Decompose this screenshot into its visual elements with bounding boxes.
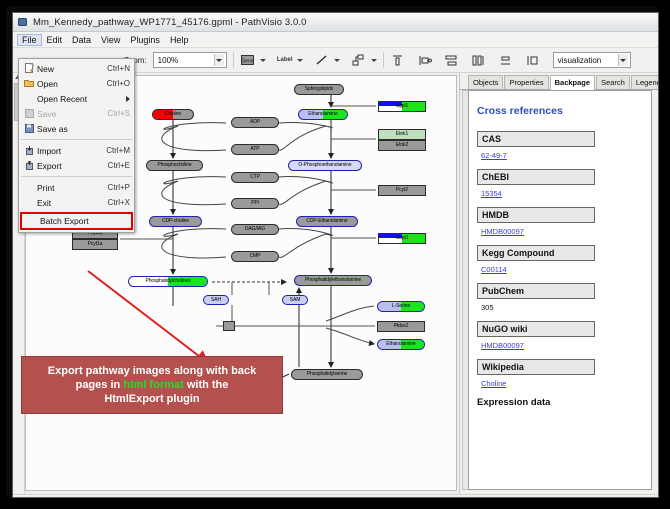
visualization-combo[interactable]: visualization	[553, 52, 631, 68]
annotation-highlight: html format	[123, 379, 184, 391]
menu-label-open: Open	[37, 79, 107, 89]
screenshot-root: Mm_Kennedy_pathway_WP1771_45176.gpml - P…	[0, 0, 670, 509]
save-as-icon	[21, 122, 37, 135]
file-menu-dropdown[interactable]: New Ctrl+N Open Ctrl+O Open Recent Save …	[18, 58, 135, 233]
toolbar-separator-2	[383, 52, 384, 68]
node-ptdss2[interactable]: Ptdss2	[377, 321, 425, 332]
node-sphingolipids[interactable]: Sphingolipids	[294, 84, 344, 95]
menu-label-exit: Exit	[37, 198, 108, 208]
xref-link-cas[interactable]: 62-49-7	[481, 151, 643, 160]
node-phosphatidylcholines[interactable]: Phosphatidylcholines	[128, 276, 208, 287]
open-folder-icon	[21, 77, 37, 90]
xref-link-chebi[interactable]: 15354	[481, 189, 643, 198]
menu-item-import[interactable]: Import Ctrl+M	[19, 143, 134, 158]
tab-objects[interactable]: Objects	[468, 75, 503, 89]
xref-header-pubchem: PubChem	[477, 283, 595, 299]
annotation-line-3: HtmlExport plugin	[104, 392, 199, 406]
menu-separator-1	[21, 139, 132, 140]
line-tool-icon[interactable]	[314, 52, 330, 68]
label-tool-icon[interactable]: Label	[277, 52, 293, 68]
tab-properties[interactable]: Properties	[504, 75, 548, 89]
xref-header-cas: CAS	[477, 131, 595, 147]
menu-label-new: New	[37, 64, 107, 74]
side-panel: Objects Properties Backpage Search Legen…	[460, 73, 658, 494]
interaction-dropdown-icon[interactable]	[371, 59, 377, 62]
node-pcyt1a[interactable]: Pcyt1a	[72, 239, 118, 250]
line-dropdown-icon[interactable]	[334, 59, 340, 62]
menu-item-save-as[interactable]: Save as	[19, 121, 134, 136]
node-sgpl1[interactable]: Sgpl1	[378, 101, 426, 112]
datanode-tool-icon[interactable]: Gene	[240, 52, 256, 68]
xref-header-wikipedia: Wikipedia	[477, 359, 595, 375]
menu-data[interactable]: Data	[67, 34, 96, 46]
menu-edit[interactable]: Edit	[42, 34, 68, 46]
node-sah[interactable]: SAH	[203, 295, 229, 305]
export-icon	[21, 159, 37, 172]
node-ethanolamine-bottom[interactable]: Ethanolamine	[377, 339, 425, 350]
menu-accel-import: Ctrl+M	[106, 146, 134, 155]
node-ctp[interactable]: CTP	[231, 172, 279, 183]
status-bar: | Gene database: ...m_Derby_20120602.bri…	[13, 494, 658, 498]
menu-label-batch-export: Batch Export	[40, 216, 131, 226]
xref-link-kegg-compound[interactable]: C00114	[481, 265, 643, 274]
menu-bar: File Edit Data View Plugins Help	[13, 32, 658, 48]
align-top-icon[interactable]	[390, 52, 406, 68]
tab-search[interactable]: Search	[596, 75, 630, 89]
menu-file[interactable]: File	[17, 34, 42, 46]
new-file-icon	[21, 62, 37, 75]
label-dropdown-icon[interactable]	[297, 59, 303, 62]
chevron-down-icon-2	[618, 54, 628, 66]
chevron-down-icon	[214, 54, 224, 66]
title-bar: Mm_Kennedy_pathway_WP1771_45176.gpml - P…	[13, 13, 658, 32]
zoom-value: 100%	[158, 56, 178, 65]
status-bar-text: | Gene database: ...m_Derby_20120602.bri…	[16, 497, 654, 498]
annotation-line2-b: with the	[184, 379, 229, 391]
node-o-phosphoethanolamine[interactable]: O-Phosphoethanolamine	[288, 160, 362, 171]
menu-accel-save: Ctrl+S	[108, 109, 134, 118]
node-etnk1[interactable]: Etnk1	[378, 129, 426, 140]
node-pemt[interactable]	[223, 321, 235, 331]
interaction-tool-icon[interactable]	[351, 52, 367, 68]
align-left-icon[interactable]	[417, 52, 433, 68]
menu-item-exit[interactable]: Exit Ctrl+X	[19, 195, 134, 210]
node-adp[interactable]: ADP	[231, 117, 279, 128]
xref-header-hmdb: HMDB	[477, 207, 595, 223]
menu-label-print: Print	[37, 183, 108, 193]
menu-accel-exit: Ctrl+X	[108, 198, 134, 207]
menu-accel-export: Ctrl+E	[108, 161, 134, 170]
datanode-dropdown-icon[interactable]	[260, 59, 266, 62]
toolbar-separator	[233, 52, 234, 68]
node-sam[interactable]: SAM	[282, 295, 308, 305]
node-cdp-choline[interactable]: CDP-choline	[149, 216, 202, 227]
save-icon	[21, 107, 37, 120]
menu-label-open-recent: Open Recent	[37, 94, 126, 104]
annotation-banner: Export pathway images along with back pa…	[21, 356, 283, 414]
menu-help[interactable]: Help	[165, 34, 194, 46]
side-panel-tabs: Objects Properties Backpage Search Legen…	[460, 73, 658, 90]
menu-label-save-as: Save as	[37, 124, 130, 134]
xref-link-hmdb[interactable]: HMDB00097	[481, 227, 643, 236]
xref-link-wikipedia[interactable]: Choline	[481, 379, 643, 388]
node-l-serine[interactable]: L-Serine	[377, 301, 425, 312]
annotation-line-2: pages in html format with the	[76, 378, 229, 392]
xref-header-kegg-compound: Kegg Compound	[477, 245, 595, 261]
xref-value-pubchem: 305	[481, 303, 643, 312]
menu-item-new[interactable]: New Ctrl+N	[19, 61, 134, 76]
node-phosphatidylserine[interactable]: Phosphatidylserine	[291, 369, 363, 380]
xref-header-nugo-wiki: NuGO wiki	[477, 321, 595, 337]
menu-separator-2	[21, 176, 132, 177]
node-phosphatidylethanolamine[interactable]: Phosphatidylethanolamine	[294, 275, 372, 286]
menu-accel-print: Ctrl+P	[108, 183, 134, 192]
node-cdp-ethanolamine[interactable]: CDP-Ethanolamine	[296, 216, 358, 227]
cross-references-title: Cross references	[477, 105, 643, 117]
visualization-value: visualization	[558, 56, 602, 65]
menu-item-open-recent[interactable]: Open Recent	[19, 91, 134, 106]
node-cept1[interactable]: Cept1	[378, 233, 426, 244]
stack-center-icon[interactable]	[498, 52, 514, 68]
distribute-vertical-icon[interactable]	[444, 52, 460, 68]
annotation-line-1: Export pathway images along with back	[48, 364, 256, 378]
menu-accel-new: Ctrl+N	[107, 64, 134, 73]
menu-label-save: Save	[37, 109, 108, 119]
window-title: Mm_Kennedy_pathway_WP1771_45176.gpml - P…	[33, 17, 307, 28]
annotation-line2-a: pages in	[76, 379, 124, 391]
menu-plugins[interactable]: Plugins	[125, 34, 165, 46]
menu-item-save: Save Ctrl+S	[19, 106, 134, 121]
tab-legend[interactable]: Legend	[631, 75, 659, 89]
tab-backpage[interactable]: Backpage	[550, 75, 595, 90]
menu-item-print[interactable]: Print Ctrl+P	[19, 180, 134, 195]
import-icon	[21, 144, 37, 157]
node-cmp[interactable]: CMP	[231, 251, 279, 262]
menu-item-open[interactable]: Open Ctrl+O	[19, 76, 134, 91]
xref-link-nugo-wiki[interactable]: HMDB00097	[481, 341, 643, 350]
node-atp[interactable]: ATP	[231, 144, 279, 155]
node-ppi[interactable]: PPi	[231, 198, 279, 209]
backpage-content: Cross references CAS 62-49-7 ChEBI 15354…	[468, 90, 652, 490]
xref-header-chebi: ChEBI	[477, 169, 595, 185]
node-etnk2[interactable]: Etnk2	[378, 140, 426, 151]
menu-view[interactable]: View	[96, 34, 125, 46]
menu-item-batch-export[interactable]: Batch Export	[20, 212, 133, 230]
zoom-combo[interactable]: 100%	[153, 52, 227, 68]
node-pcyt2[interactable]: Pcyt2	[378, 185, 426, 196]
node-dag-iag[interactable]: DAG/IAG	[231, 224, 279, 235]
pathvisio-app-icon	[17, 16, 29, 28]
expression-data-heading: Expression data	[477, 397, 643, 408]
svg-text:Gene: Gene	[242, 58, 254, 64]
menu-label-import: Import	[37, 146, 106, 156]
menu-accel-open: Ctrl+O	[107, 79, 134, 88]
node-ethanolamine-top[interactable]: Ethanolamine	[298, 109, 348, 120]
distribute-horizontal-icon[interactable]	[471, 52, 487, 68]
node-phosphocholine[interactable]: Phosphocholine	[146, 160, 203, 171]
common-size-icon[interactable]	[525, 52, 541, 68]
menu-label-export: Export	[37, 161, 108, 171]
menu-item-export[interactable]: Export Ctrl+E	[19, 158, 134, 173]
pathvisio-window: Mm_Kennedy_pathway_WP1771_45176.gpml - P…	[12, 12, 659, 498]
chevron-right-icon	[126, 96, 130, 102]
node-choline-top[interactable]: Choline	[152, 109, 194, 120]
